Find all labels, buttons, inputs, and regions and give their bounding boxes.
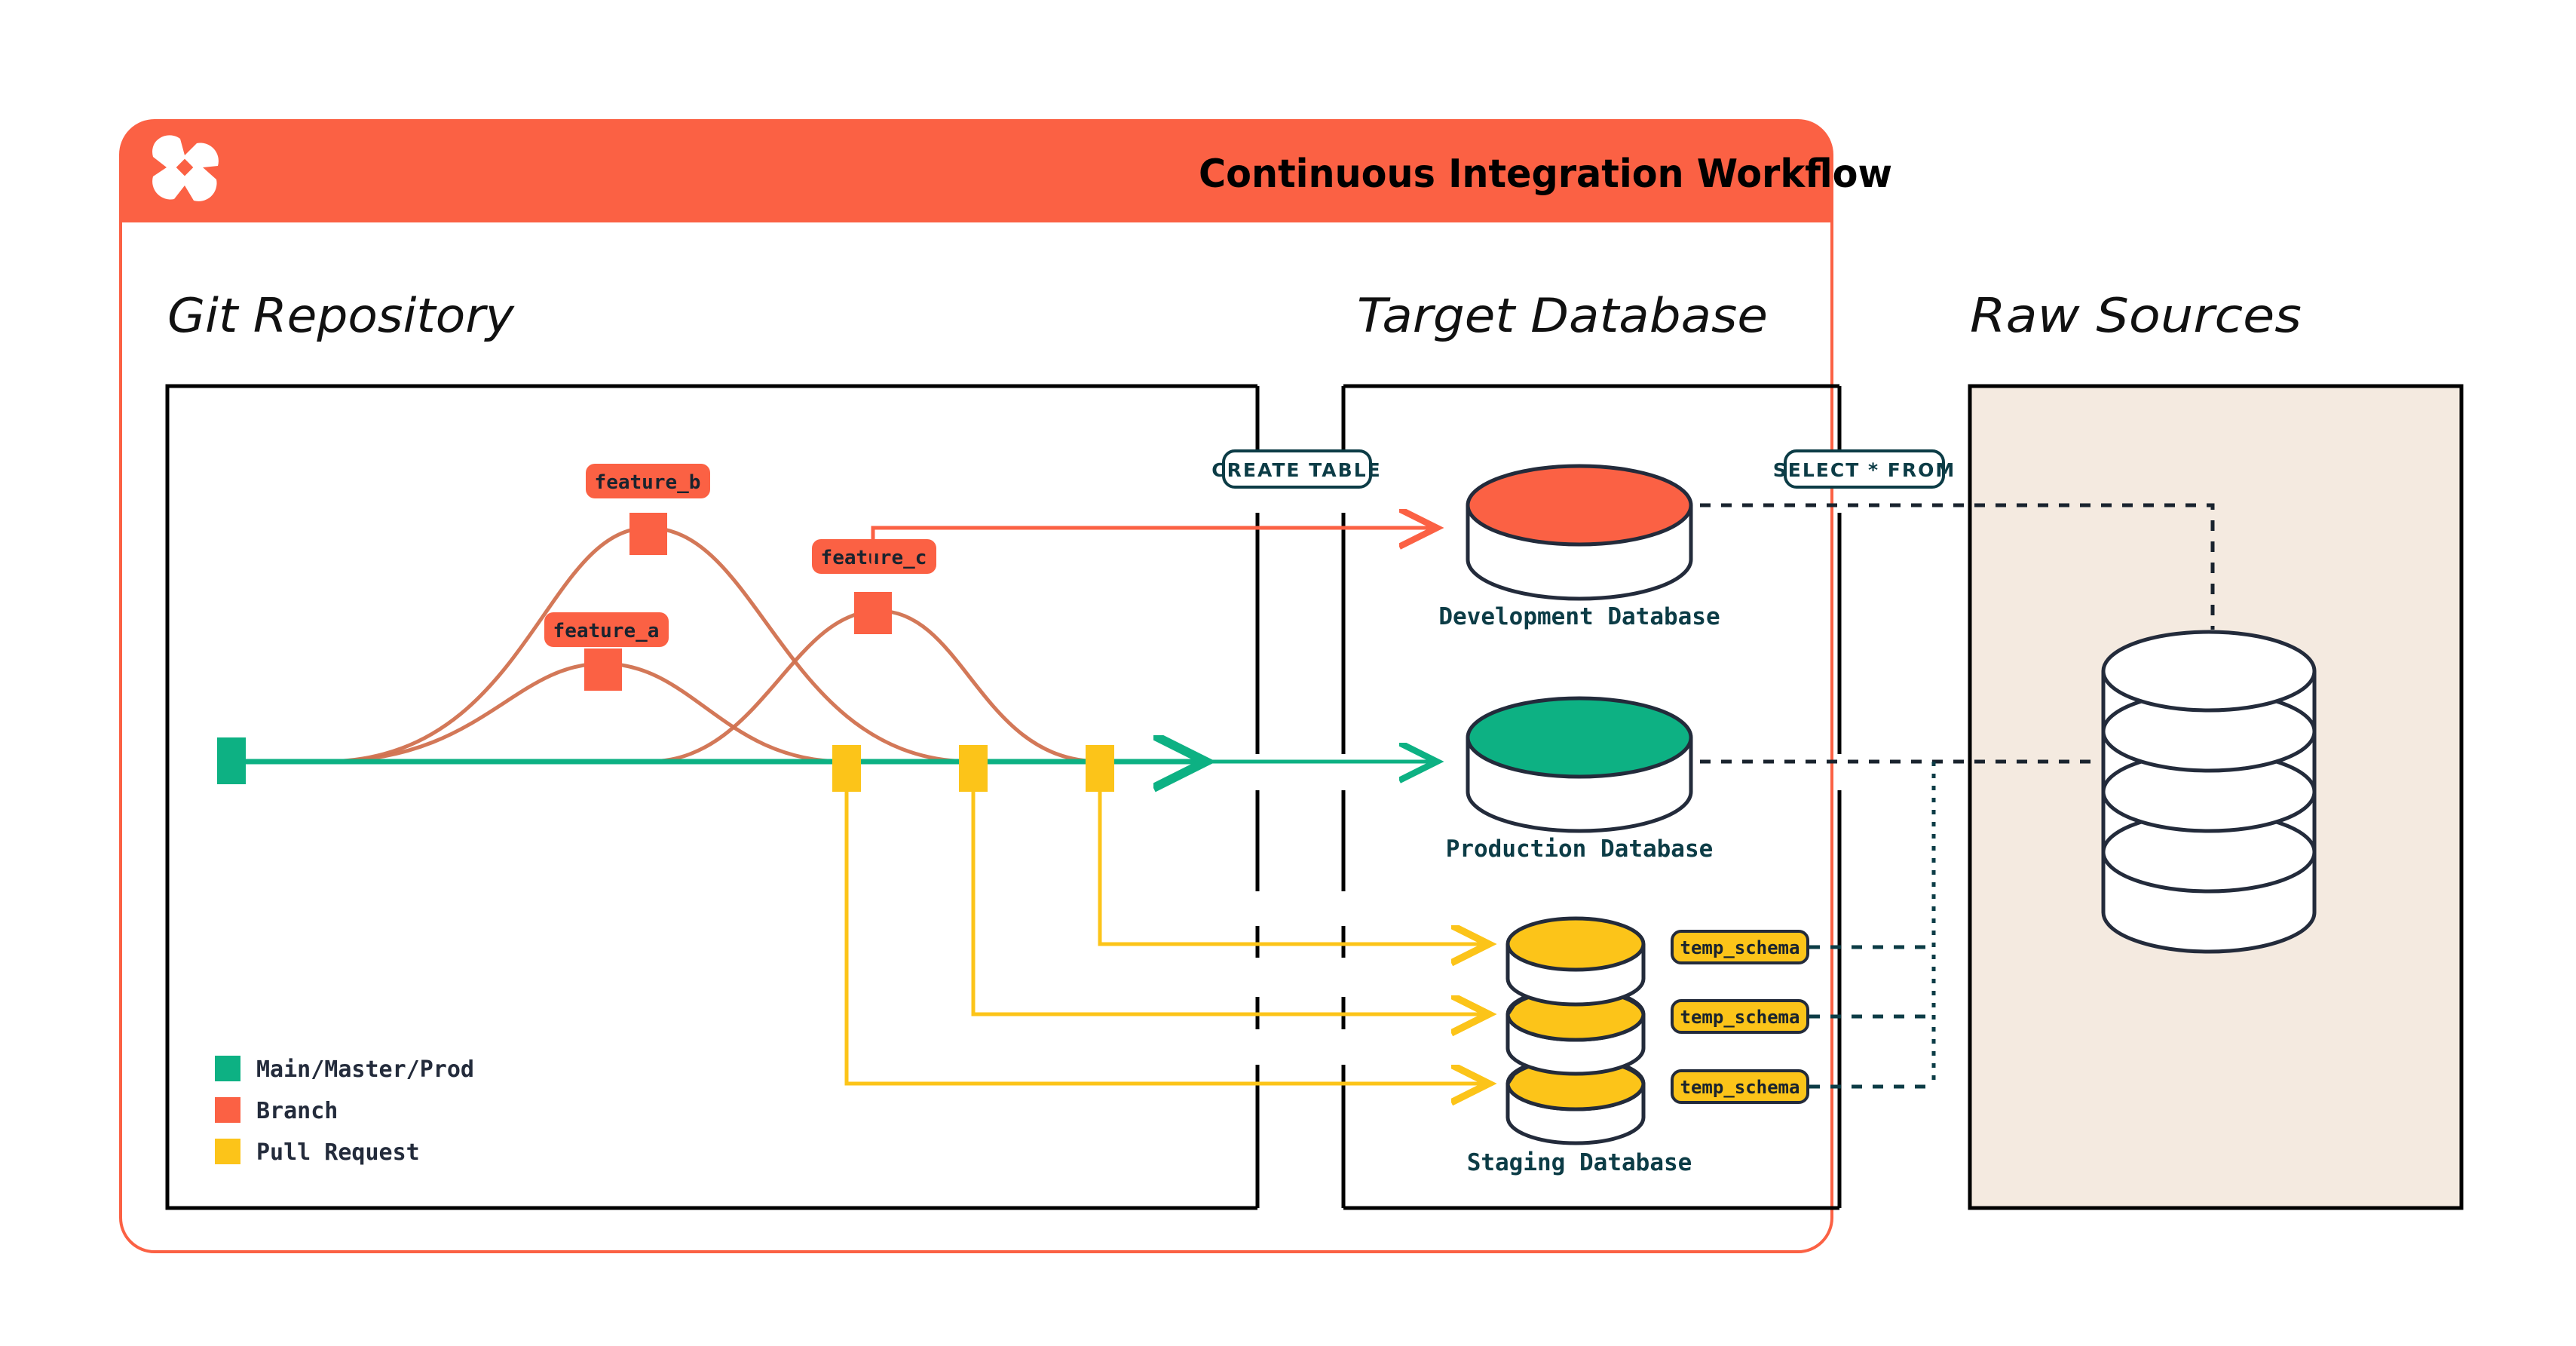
svg-text:temp_schema: temp_schema — [1680, 1077, 1800, 1098]
section-title-target: Target Database — [1357, 288, 1768, 343]
schema-badge-1: temp_schema — [1672, 1001, 1808, 1032]
database-prod-label: Production Database — [1446, 836, 1714, 863]
pr-node-3 — [1086, 745, 1114, 792]
branch-badge-feature-b: feature_b — [586, 464, 710, 498]
page-title: Continuous Integration Workflow — [1199, 152, 1892, 197]
schema-badge-0: temp_schema — [1672, 931, 1808, 963]
pr-node-2 — [959, 745, 988, 792]
branch-badge-feature-a: feature_a — [544, 612, 669, 647]
commit-node-main — [217, 737, 246, 784]
pr-node-1 — [832, 745, 861, 792]
svg-text:feature_b: feature_b — [595, 471, 701, 494]
legend-swatch-0 — [215, 1056, 240, 1081]
svg-text:SELECT * FROM: SELECT * FROM — [1773, 459, 1956, 481]
commit-node-feature-b — [629, 513, 667, 555]
schema-badge-2: temp_schema — [1672, 1071, 1808, 1102]
database-staging-label: Staging Database — [1467, 1149, 1692, 1176]
svg-text:temp_schema: temp_schema — [1680, 937, 1800, 958]
database-prod: Production Database — [1446, 698, 1714, 863]
legend-label-2: Pull Request — [256, 1139, 420, 1166]
svg-text:CREATE TABLE: CREATE TABLE — [1211, 459, 1381, 481]
commit-node-feature-a — [584, 648, 622, 691]
database-dev-label: Development Database — [1438, 603, 1720, 630]
svg-text:feature_a: feature_a — [553, 620, 660, 642]
sql-badge-create-table: CREATE TABLE — [1211, 451, 1381, 487]
legend-swatch-2 — [215, 1139, 240, 1164]
section-title-raw: Raw Sources — [1970, 288, 2302, 343]
legend-label-1: Branch — [256, 1098, 338, 1124]
database-dev: Development Database — [1438, 466, 1720, 630]
raw-sources-cylinder — [2103, 632, 2314, 952]
sql-badge-select-from: SELECT * FROM — [1773, 451, 1956, 487]
section-title-git: Git Repository — [167, 288, 515, 343]
commit-node-feature-c — [854, 592, 892, 634]
diagram-canvas: Continuous Integration Workflow Git Repo… — [0, 0, 2576, 1346]
legend-swatch-1 — [215, 1097, 240, 1123]
legend-label-0: Main/Master/Prod — [256, 1056, 474, 1083]
svg-text:temp_schema: temp_schema — [1680, 1007, 1800, 1028]
